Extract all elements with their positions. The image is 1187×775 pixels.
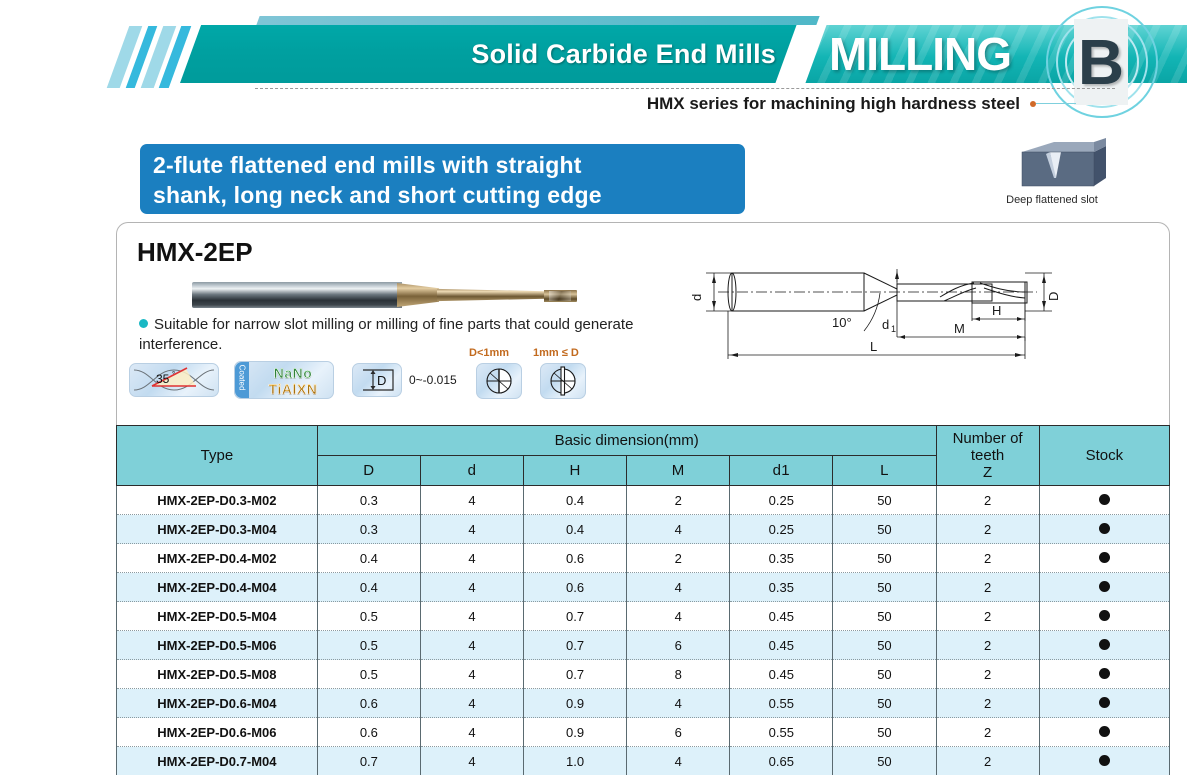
cell-H: 0.7 [524,631,627,660]
stock-available-icon [1099,581,1110,592]
cell-H: 0.7 [524,602,627,631]
cell-Z: 2 [936,602,1039,631]
cell-D: 0.7 [317,747,420,775]
table-row: HMX-2EP-D0.6-M040.640.940.55502 [117,689,1170,718]
cell-d1: 0.55 [730,689,833,718]
helix-angle-icon: 35 ° [129,363,219,397]
type-cell: HMX-2EP-D0.4-M02 [117,544,318,573]
cell-d: 4 [420,515,523,544]
cell-d: 4 [420,486,523,515]
coated-tab: Coated [235,362,249,398]
cell-L: 50 [833,689,936,718]
subcol-d1: d1 [730,456,833,486]
table-row: HMX-2EP-D0.3-M040.340.440.25502 [117,515,1170,544]
cell-H: 0.6 [524,544,627,573]
cell-Z: 2 [936,660,1039,689]
product-card: HMX-2EP Suitable for narrow slot milling… [116,222,1170,425]
subcol-M: M [627,456,730,486]
cell-Z: 2 [936,689,1039,718]
col-stock: Stock [1039,426,1169,486]
header-thin-stripe [256,16,819,25]
cell-H: 0.6 [524,573,627,602]
drawing-label-d: d [692,294,704,301]
type-cell: HMX-2EP-D0.6-M04 [117,689,318,718]
type-cell: HMX-2EP-D0.5-M06 [117,631,318,660]
table-row: HMX-2EP-D0.5-M080.540.780.45502 [117,660,1170,689]
table-row: HMX-2EP-D0.5-M060.540.760.45502 [117,631,1170,660]
cell-d1: 0.35 [730,573,833,602]
catalog-page: Solid Carbide End Mills MILLING B HMX se… [0,0,1187,775]
subcol-L: L [833,456,936,486]
cell-L: 50 [833,660,936,689]
cell-L: 50 [833,747,936,775]
badge-letter: B [1074,19,1128,105]
drawing-label-D: D [1046,292,1061,301]
cell-M: 4 [627,747,730,775]
stock-available-icon [1099,726,1110,737]
subtitle-connector-line [1036,103,1076,104]
cell-stock [1039,544,1169,573]
coating-icon: Coated NaNo TiAlXN [234,361,334,399]
endview-small-label: D<1mm [469,347,509,359]
endview-large-label: 1mm ≤ D [533,347,579,359]
cell-d1: 0.35 [730,544,833,573]
cell-L: 50 [833,515,936,544]
product-title-banner: 2-flute flattened end mills with straigh… [140,144,745,214]
endview-small-icon [476,363,522,399]
cell-D: 0.3 [317,486,420,515]
col-type: Type [117,426,318,486]
cell-H: 1.0 [524,747,627,775]
drawing-label-M: M [954,321,965,336]
banner-line-1: 2-flute flattened end mills with straigh… [153,150,745,180]
svg-text:D: D [377,373,386,388]
table-row: HMX-2EP-D0.3-M020.340.420.25502 [117,486,1170,515]
cell-stock [1039,486,1169,515]
stock-available-icon [1099,639,1110,650]
cell-d1: 0.25 [730,486,833,515]
coated-label: Coated [238,360,247,396]
banner-line-2: shank, long neck and short cutting edge [153,180,745,210]
cell-M: 2 [627,544,730,573]
drawing-label-angle: 10° [832,315,852,330]
stock-available-icon [1099,523,1110,534]
cell-Z: 2 [936,631,1039,660]
cell-L: 50 [833,544,936,573]
table-row: HMX-2EP-D0.7-M040.741.040.65502 [117,747,1170,775]
header-milling-text: MILLING [805,24,1035,84]
cell-stock [1039,718,1169,747]
feature-description: Suitable for narrow slot milling or mill… [139,315,699,355]
stock-available-icon [1099,610,1110,621]
cell-D: 0.5 [317,660,420,689]
cell-stock [1039,689,1169,718]
drawing-label-L: L [870,339,877,354]
cell-H: 0.9 [524,718,627,747]
tool-taper [397,283,439,307]
header-dashed-rule [255,88,1115,89]
cell-M: 4 [627,573,730,602]
cell-d: 4 [420,544,523,573]
cell-L: 50 [833,631,936,660]
teeth-line-2: teeth [939,447,1037,464]
subtitle-dot-icon [1030,101,1036,107]
col-number-of-teeth: Number of teeth Z [936,426,1039,486]
table-head: Type Basic dimension(mm) Number of teeth… [117,426,1170,486]
cell-D: 0.4 [317,544,420,573]
technical-drawing: d D d 1 H M L 10° [692,251,1152,369]
cell-d: 4 [420,573,523,602]
cell-Z: 2 [936,515,1039,544]
col-basic-dimension: Basic dimension(mm) [317,426,936,456]
stock-available-icon [1099,494,1110,505]
drawing-label-d1: d [882,317,889,332]
cell-Z: 2 [936,544,1039,573]
table-row: HMX-2EP-D0.5-M040.540.740.45502 [117,602,1170,631]
coating-name: NaNo TiAlXN [251,365,335,397]
cell-stock [1039,660,1169,689]
endview-large-icon [540,363,586,399]
cell-d: 4 [420,660,523,689]
cell-M: 6 [627,631,730,660]
type-cell: HMX-2EP-D0.6-M06 [117,718,318,747]
cell-D: 0.6 [317,689,420,718]
stock-available-icon [1099,668,1110,679]
type-cell: HMX-2EP-D0.3-M04 [117,515,318,544]
specification-table: Type Basic dimension(mm) Number of teeth… [116,425,1170,775]
end-mill-photo [192,269,577,319]
cell-d: 4 [420,689,523,718]
cell-L: 50 [833,573,936,602]
cell-Z: 2 [936,486,1039,515]
page-header: Solid Carbide End Mills MILLING B HMX se… [0,0,1187,122]
cell-d1: 0.45 [730,602,833,631]
cell-d1: 0.65 [730,747,833,775]
subcol-H: H [524,456,627,486]
tolerance-value: 0~-0.015 [409,373,457,387]
svg-text:1: 1 [891,324,896,334]
table-row: HMX-2EP-D0.4-M020.440.620.35502 [117,544,1170,573]
cell-M: 4 [627,689,730,718]
cell-stock [1039,602,1169,631]
cell-Z: 2 [936,573,1039,602]
cell-L: 50 [833,718,936,747]
header-subtitle: HMX series for machining high hardness s… [300,92,1020,116]
subcol-d: d [420,456,523,486]
deep-flattened-slot-icon: Deep flattened slot [966,138,1138,210]
cell-stock [1039,515,1169,544]
teeth-line-3: Z [939,464,1037,481]
cell-H: 0.4 [524,515,627,544]
cell-d1: 0.55 [730,718,833,747]
cell-D: 0.6 [317,718,420,747]
cell-d: 4 [420,602,523,631]
table-body: HMX-2EP-D0.3-M020.340.420.25502HMX-2EP-D… [117,486,1170,775]
table-row: HMX-2EP-D0.4-M040.440.640.35502 [117,573,1170,602]
subcol-D: D [317,456,420,486]
cell-Z: 2 [936,718,1039,747]
svg-text:°: ° [172,370,175,379]
cell-stock [1039,631,1169,660]
cell-M: 4 [627,515,730,544]
cell-L: 50 [833,602,936,631]
cell-d1: 0.45 [730,660,833,689]
cell-D: 0.4 [317,573,420,602]
cell-H: 0.9 [524,689,627,718]
tool-flute-detail [549,291,571,301]
stock-available-icon [1099,755,1110,766]
cell-L: 50 [833,486,936,515]
cell-stock [1039,573,1169,602]
cell-d1: 0.25 [730,515,833,544]
bullet-icon [139,319,148,328]
cell-H: 0.4 [524,486,627,515]
cell-d: 4 [420,718,523,747]
svg-text:35: 35 [156,372,170,386]
cell-M: 6 [627,718,730,747]
cell-stock [1039,747,1169,775]
cell-d: 4 [420,747,523,775]
drawing-label-H: H [992,303,1001,318]
stock-available-icon [1099,552,1110,563]
coating-line-2: TiAlXN [251,381,335,397]
cell-D: 0.5 [317,602,420,631]
type-cell: HMX-2EP-D0.7-M04 [117,747,318,775]
slot-icon-label: Deep flattened slot [966,194,1138,206]
cell-H: 0.7 [524,660,627,689]
tool-shank [192,282,402,308]
cell-D: 0.5 [317,631,420,660]
type-cell: HMX-2EP-D0.5-M04 [117,602,318,631]
stock-available-icon [1099,697,1110,708]
cell-M: 8 [627,660,730,689]
cell-M: 2 [627,486,730,515]
coating-line-1: NaNo [251,365,335,381]
header-title: Solid Carbide End Mills [420,34,776,74]
diameter-tolerance-icon: D [352,363,402,397]
product-model: HMX-2EP [137,237,253,268]
cell-d1: 0.45 [730,631,833,660]
type-cell: HMX-2EP-D0.4-M04 [117,573,318,602]
table-header-row-1: Type Basic dimension(mm) Number of teeth… [117,426,1170,456]
cell-Z: 2 [936,747,1039,775]
cell-M: 4 [627,602,730,631]
type-cell: HMX-2EP-D0.3-M02 [117,486,318,515]
cell-D: 0.3 [317,515,420,544]
cell-d: 4 [420,631,523,660]
teeth-line-1: Number of [939,430,1037,447]
type-cell: HMX-2EP-D0.5-M08 [117,660,318,689]
table-row: HMX-2EP-D0.6-M060.640.960.55502 [117,718,1170,747]
